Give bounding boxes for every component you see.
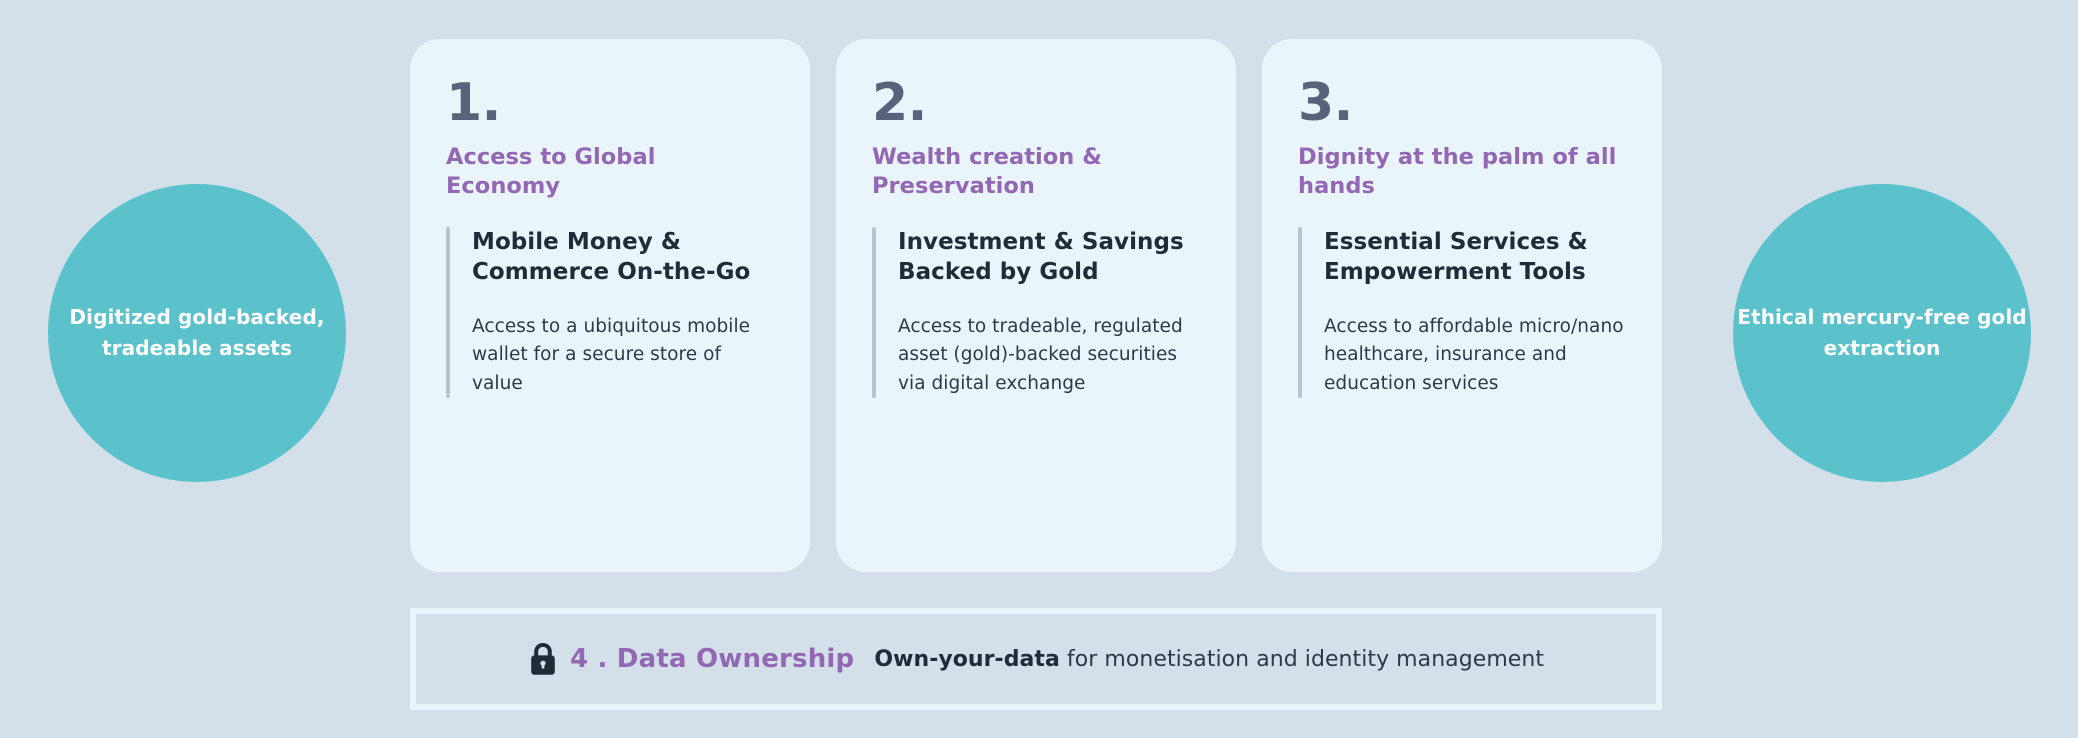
pillar-card-1[interactable]: 1. Access to Global Economy Mobile Money… [410,39,810,572]
card-2-subtitle: Investment & Savings Backed by Gold [898,227,1200,288]
data-ownership-emphasis: Own-your-data [874,647,1060,672]
circle-left-label: Digitized gold-backed, tradeable assets [48,302,346,364]
card-3-subtitle: Essential Services & Empowerment Tools [1324,227,1626,288]
card-2-description: Access to tradeable, regulated asset (go… [898,313,1200,397]
pillar-card-2[interactable]: 2. Wealth creation & Preservation Invest… [836,39,1236,572]
circle-left-digitized-assets: Digitized gold-backed, tradeable assets [48,184,346,482]
lock-icon [528,642,558,676]
data-ownership-text: Own-your-data for monetisation and ident… [874,647,1544,672]
data-ownership-title: 4 . Data Ownership [570,644,854,674]
card-2-accent-bar [872,227,876,398]
card-3-body-text: Essential Services & Empowerment Tools A… [1324,227,1626,398]
card-1-heading: Access to Global Economy [446,143,774,201]
infographic-stage: Digitized gold-backed, tradeable assets … [0,0,2078,738]
data-ownership-bar[interactable]: 4 . Data Ownership Own-your-data for mon… [410,608,1662,710]
card-3-heading: Dignity at the palm of all hands [1298,143,1626,201]
card-2-number: 2. [872,77,1200,129]
card-1-subtitle: Mobile Money & Commerce On-the-Go [472,227,774,288]
pillar-card-3[interactable]: 3. Dignity at the palm of all hands Esse… [1262,39,1662,572]
card-2-heading: Wealth creation & Preservation [872,143,1200,201]
pillar-cards-row: 1. Access to Global Economy Mobile Money… [410,39,1662,572]
circle-right-ethical-extraction: Ethical mercury-free gold extraction [1733,184,2031,482]
card-1-body: Mobile Money & Commerce On-the-Go Access… [446,227,774,398]
card-1-description: Access to a ubiquitous mobile wallet for… [472,313,774,397]
card-3-description: Access to affordable micro/nano healthca… [1324,313,1626,397]
card-1-accent-bar [446,227,450,398]
card-3-number: 3. [1298,77,1626,129]
data-ownership-bar-content: 4 . Data Ownership Own-your-data for mon… [528,642,1544,676]
card-3-body: Essential Services & Empowerment Tools A… [1298,227,1626,398]
card-1-body-text: Mobile Money & Commerce On-the-Go Access… [472,227,774,398]
data-ownership-rest: for monetisation and identity management [1060,647,1544,672]
card-3-accent-bar [1298,227,1302,398]
card-2-body-text: Investment & Savings Backed by Gold Acce… [898,227,1200,398]
card-1-number: 1. [446,77,774,129]
card-2-body: Investment & Savings Backed by Gold Acce… [872,227,1200,398]
circle-right-label: Ethical mercury-free gold extraction [1733,302,2031,364]
